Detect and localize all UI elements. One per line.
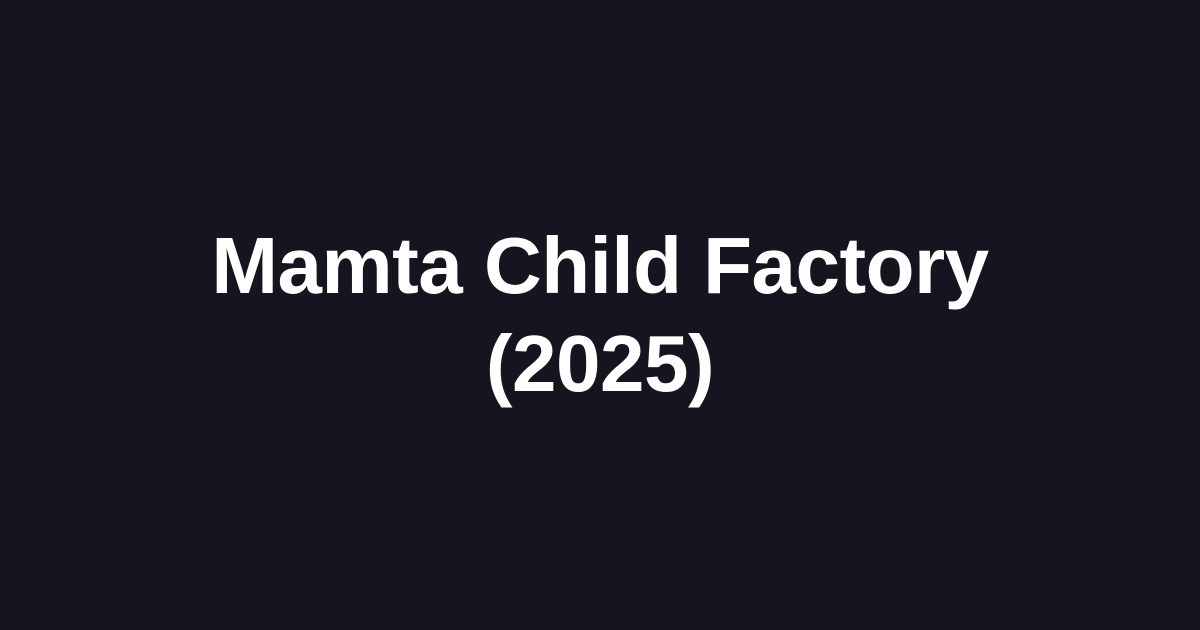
page-title: Mamta Child Factory (2025)	[211, 217, 988, 412]
title-card: Mamta Child Factory (2025)	[0, 0, 1200, 630]
title-card-content: Mamta Child Factory (2025)	[100, 217, 1100, 412]
title-line-year: (2025)	[211, 315, 988, 413]
title-line-primary: Mamta Child Factory	[211, 217, 988, 315]
